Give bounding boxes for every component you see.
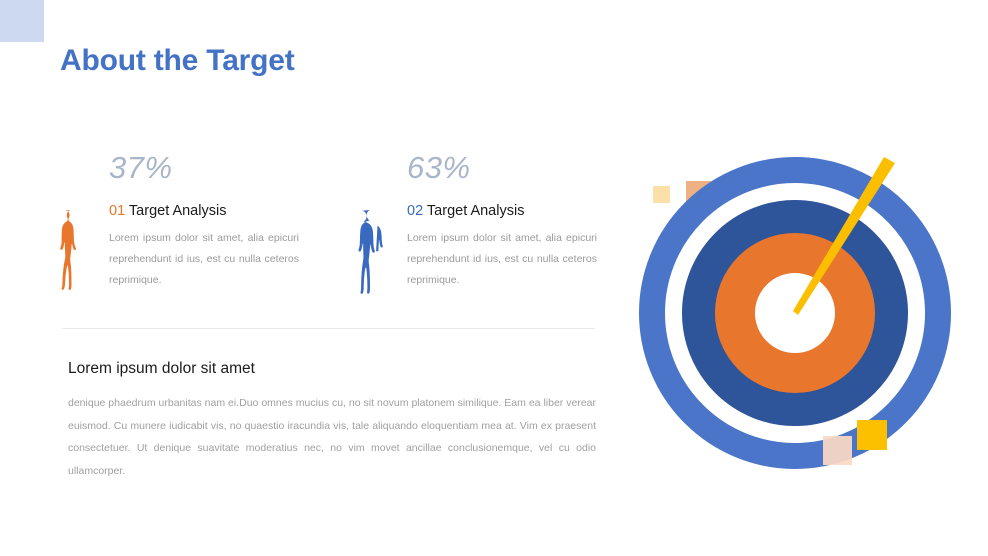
- stat-column-2: 63% 02 Target Analysis Lorem ipsum dolor…: [353, 152, 605, 308]
- stat-column-1: 37% 01 Target Analysis Lorem ipsum dolor…: [55, 152, 307, 308]
- slide-root: About the Target 37% 01 Target Analysis …: [0, 0, 988, 556]
- stat-body-2: 63% 02 Target Analysis Lorem ipsum dolor…: [405, 152, 605, 291]
- square-peach-bottom: [823, 436, 852, 465]
- bullseye: [735, 253, 855, 373]
- person-male-icon: [353, 208, 405, 308]
- stat-percent: 37%: [109, 152, 307, 183]
- stat-title: Target Analysis: [129, 203, 227, 219]
- stat-heading-2: 02 Target Analysis: [407, 203, 605, 219]
- square-cream-top-left: [653, 186, 670, 203]
- stat-percent: 63%: [407, 152, 605, 183]
- section-divider: [62, 328, 595, 329]
- bottom-section: Lorem ipsum dolor sit amet denique phaed…: [68, 360, 596, 482]
- person-female-icon: [55, 208, 107, 308]
- page-title: About the Target: [60, 44, 295, 78]
- stat-number: 02: [407, 203, 423, 219]
- stat-description: Lorem ipsum dolor sit amet, alia epicuri…: [109, 228, 299, 291]
- stat-description: Lorem ipsum dolor sit amet, alia epicuri…: [407, 228, 597, 291]
- stat-title: Target Analysis: [427, 203, 525, 219]
- target-bullseye-graphic: [620, 145, 988, 525]
- square-yellow-bottom-right: [857, 420, 887, 450]
- stats-row: 37% 01 Target Analysis Lorem ipsum dolor…: [55, 152, 605, 308]
- stat-body-1: 37% 01 Target Analysis Lorem ipsum dolor…: [107, 152, 307, 291]
- stat-number: 01: [109, 203, 125, 219]
- stat-heading-1: 01 Target Analysis: [109, 203, 307, 219]
- bottom-title: Lorem ipsum dolor sit amet: [68, 360, 596, 378]
- corner-decoration-block: [0, 0, 44, 42]
- bottom-paragraph: denique phaedrum urbanitas nam ei.Duo om…: [68, 392, 596, 482]
